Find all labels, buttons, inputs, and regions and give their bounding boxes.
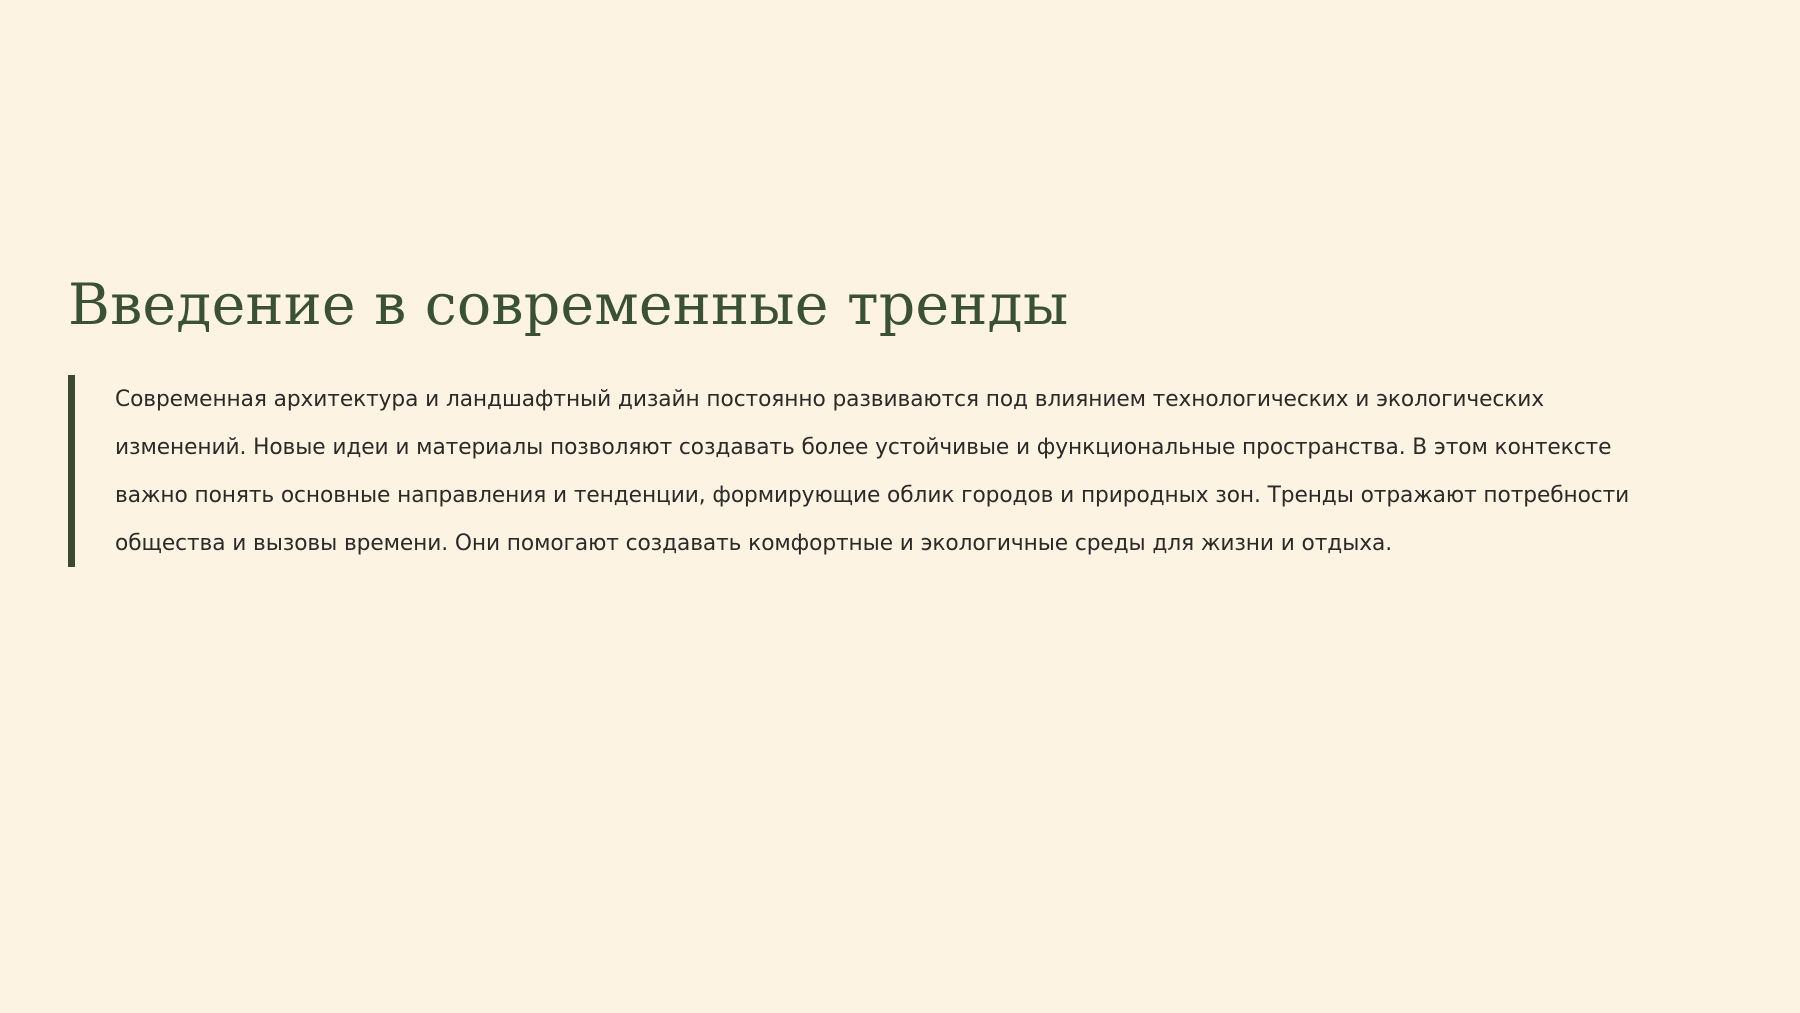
slide-content-block: Введение в современные тренды Современна… — [68, 272, 1708, 567]
quote-block: Современная архитектура и ландшафтный ди… — [68, 375, 1708, 567]
body-paragraph: Современная архитектура и ландшафтный ди… — [115, 375, 1652, 567]
accent-bar — [68, 375, 75, 567]
page-title: Введение в современные тренды — [68, 272, 1708, 339]
slide-canvas: Введение в современные тренды Современна… — [0, 0, 1800, 1013]
